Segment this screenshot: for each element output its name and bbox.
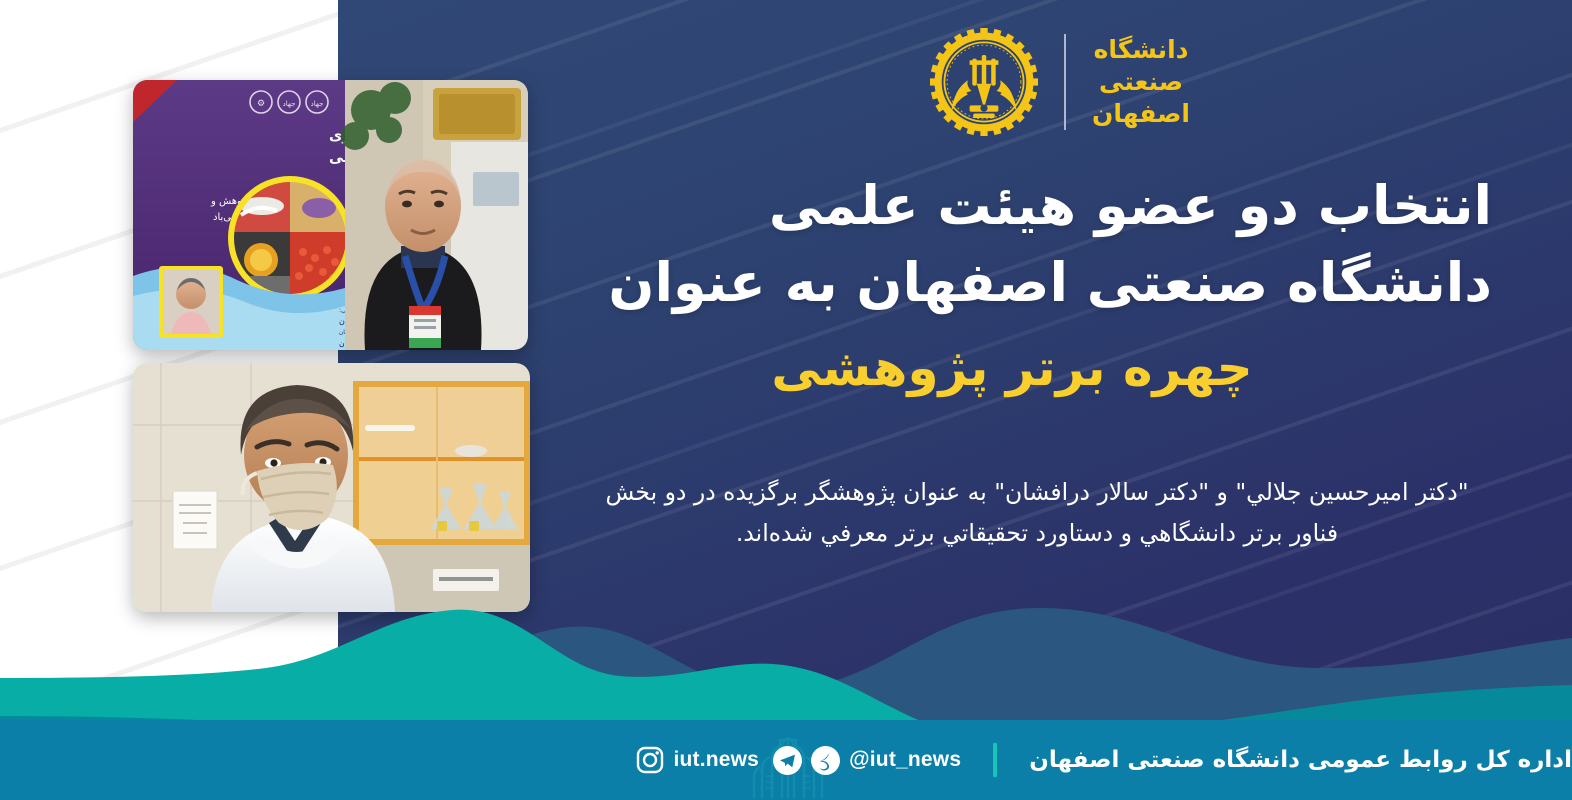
news-banner: ⚙ جهاد جهاد پژوهش و فناوری، پیشران کشاور…: [0, 0, 1572, 800]
telegram-icon[interactable]: [773, 746, 802, 775]
instagram-link[interactable]: iut.news: [636, 746, 759, 774]
iut-gear-emblem-icon: [930, 28, 1038, 136]
footer-content: iut.news @iut_news: [588, 720, 1572, 800]
instagram-handle[interactable]: iut.news: [673, 748, 759, 772]
photo-top-art: ⚙ جهاد جهاد پژوهش و فناوری، پیشران کشاور…: [133, 80, 528, 350]
headline-block: انتخاب دو عضو هیئت علمی دانشگاه صنعتی اص…: [572, 168, 1492, 397]
logo-text-line-3: اصفهان: [1092, 98, 1190, 130]
headline-line-2: دانشگاه صنعتی اصفهان به عنوان: [572, 245, 1492, 322]
footer-divider: [993, 743, 997, 777]
headline-accent: چهره برتر پژوهشی: [572, 339, 1492, 397]
messenger-handle[interactable]: @iut_news: [849, 748, 961, 772]
iut-logo-text: دانشگاه صنعتی اصفهان: [1066, 34, 1190, 130]
footer-bar: iut.news @iut_news: [0, 720, 1572, 800]
messenger-links[interactable]: @iut_news: [773, 746, 961, 775]
logo-text-line-2: صنعتی: [1092, 66, 1190, 98]
logo-divider: [1064, 34, 1066, 130]
headline-line-1: انتخاب دو عضو هیئت علمی: [572, 168, 1492, 245]
footer-organization: اداره کل روابط عمومی دانشگاه صنعتی اصفها…: [1029, 747, 1572, 773]
iut-logo: دانشگاه صنعتی اصفهان: [930, 28, 1190, 136]
svg-text:جهاد: جهاد: [283, 100, 296, 108]
svg-text:جهاد: جهاد: [311, 100, 324, 108]
svg-text:⚙: ⚙: [257, 99, 265, 109]
logo-text-line-1: دانشگاه: [1092, 34, 1190, 66]
photo-researcher-exhibition: ⚙ جهاد جهاد پژوهش و فناوری، پیشران کشاور…: [133, 80, 528, 350]
body-paragraph: "دکتر امیرحسین جلالي" و "دکتر سالار دراف…: [582, 472, 1492, 554]
bale-icon[interactable]: [811, 746, 840, 775]
instagram-icon[interactable]: [636, 746, 664, 774]
